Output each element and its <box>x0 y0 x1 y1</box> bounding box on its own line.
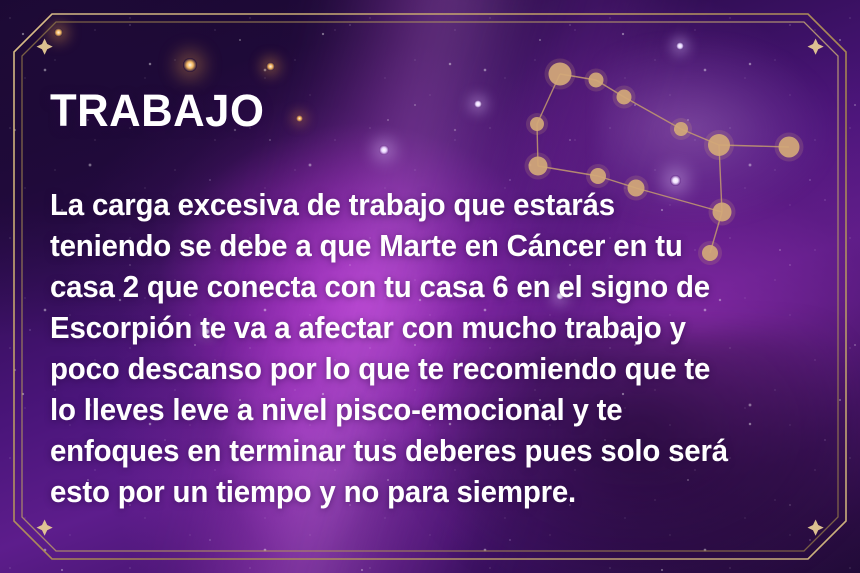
body-line: casa 2 que conecta con tu casa 6 en el s… <box>50 270 710 304</box>
glow-star-orange-1 <box>54 28 63 37</box>
horoscope-card: TRABAJO La carga excesiva de trabajo que… <box>0 0 860 573</box>
constellation-node <box>589 73 604 88</box>
sparkle-bottom-right-icon <box>808 520 824 536</box>
sparkle-top-right-icon <box>808 39 824 55</box>
text-content: TRABAJO La carga excesiva de trabajo que… <box>50 88 810 513</box>
glow-star-white-3 <box>676 42 684 50</box>
constellation-node <box>549 63 572 86</box>
glow-star-orange-3 <box>266 62 275 71</box>
body-line: poco descanso por lo que te recomiendo q… <box>50 352 710 386</box>
body-line: esto por un tiempo y no para siempre. <box>50 475 576 509</box>
body-line: Escorpión te va a afectar con mucho trab… <box>50 311 686 345</box>
sparkle-top-left-icon <box>37 39 53 55</box>
constellation-node-glow <box>545 59 576 90</box>
page-title: TRABAJO <box>50 88 787 133</box>
horoscope-body-text: La carga excesiva de trabajo que estarás… <box>50 185 793 513</box>
glow-star-orange-2 <box>183 58 197 72</box>
body-line: La carga excesiva de trabajo que estarás <box>50 188 615 222</box>
body-line: teniendo se debe a que Marte en Cáncer e… <box>50 229 683 263</box>
constellation-line <box>560 74 596 80</box>
body-line: lo lleves leve a nivel pisco-emocional y… <box>50 393 622 427</box>
body-line: enfoques en terminar tus deberes pues so… <box>50 434 728 468</box>
sparkle-bottom-left-icon <box>37 520 53 536</box>
